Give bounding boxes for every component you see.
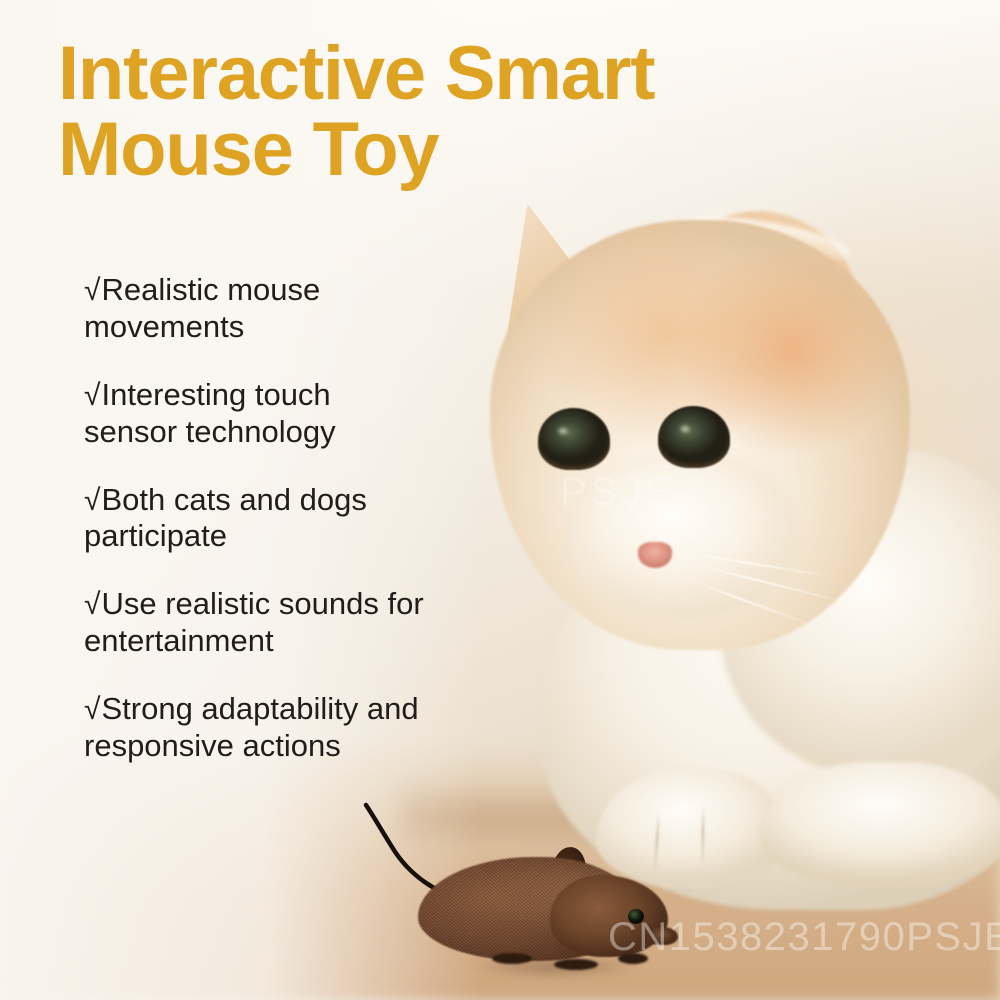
feature-text: Interesting touch sensor technology bbox=[84, 377, 336, 449]
title-line-2: Mouse Toy bbox=[58, 112, 888, 188]
cat-muzzle bbox=[570, 450, 800, 620]
mouse-foot bbox=[492, 953, 532, 964]
cat-eye-glint bbox=[676, 422, 694, 436]
feature-text: Realistic mouse movements bbox=[84, 272, 320, 344]
feature-item: √Strong adaptability and responsive acti… bbox=[84, 691, 454, 764]
feature-list: √Realistic mouse movements √Interesting … bbox=[84, 272, 484, 764]
mouse-foot bbox=[618, 953, 648, 964]
feature-item: √Realistic mouse movements bbox=[84, 272, 384, 345]
product-poster: PSJE CN1538231790PSJE Interactive Smart … bbox=[0, 0, 1000, 1000]
cat-paw-right bbox=[760, 762, 1000, 888]
feature-text: Both cats and dogs participate bbox=[84, 482, 367, 554]
check-icon: √ bbox=[84, 379, 100, 412]
mouse-toy-photo bbox=[400, 835, 700, 975]
feature-text: Use realistic sounds for entertainment bbox=[84, 586, 424, 658]
mouse-foot bbox=[554, 959, 598, 970]
feature-item: √Both cats and dogs participate bbox=[84, 482, 424, 555]
feature-item: √Use realistic sounds for entertainment bbox=[84, 586, 484, 659]
feature-item: √Interesting touch sensor technology bbox=[84, 377, 394, 450]
cat-eye-left bbox=[538, 408, 610, 470]
mouse-snout bbox=[650, 927, 678, 945]
check-icon: √ bbox=[84, 588, 100, 621]
mouse-head bbox=[550, 875, 668, 957]
cat-eye-glint bbox=[554, 424, 572, 438]
cat-photo bbox=[420, 150, 1000, 930]
check-icon: √ bbox=[84, 693, 100, 726]
feature-text: Strong adaptability and responsive actio… bbox=[84, 691, 419, 763]
mouse-eye bbox=[628, 909, 644, 924]
cat-eye-right bbox=[658, 406, 730, 468]
check-icon: √ bbox=[84, 274, 100, 307]
check-icon: √ bbox=[84, 484, 100, 517]
page-title: Interactive Smart Mouse Toy bbox=[58, 36, 888, 188]
title-line-1: Interactive Smart bbox=[58, 36, 888, 112]
